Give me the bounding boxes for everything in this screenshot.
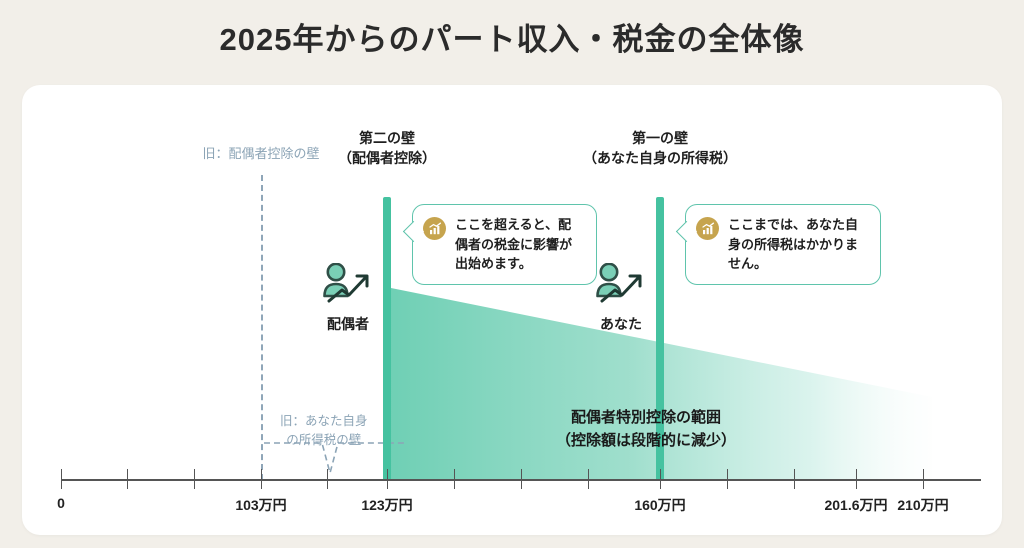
axis-tick-label-160: 160万円 xyxy=(634,495,685,515)
person-growth-icon xyxy=(321,263,375,307)
axis-tick xyxy=(794,469,795,489)
wall-second-123 xyxy=(383,197,391,481)
axis-tick-label-210: 210万円 xyxy=(897,495,948,515)
old-wall-label-110: 旧：あなた自身 の所得税の壁 xyxy=(280,412,368,450)
person-spouse: 配偶者 xyxy=(321,263,375,334)
callout-first-wall-text: ここまでは、あなた自身の所得税はかかりません。 xyxy=(728,215,868,274)
person-you: あなた xyxy=(594,263,648,334)
chart-badge-icon xyxy=(696,217,719,240)
deduction-range-caption-line1: 配偶者特別控除の範囲 xyxy=(556,407,736,430)
deduction-range-caption-line2: （控除額は段階的に減少） xyxy=(556,430,736,453)
axis-tick xyxy=(387,469,388,489)
axis-tick xyxy=(127,469,128,489)
callout-second-wall-text: ここを超えると、配偶者の税金に影響が出始めます。 xyxy=(455,215,584,274)
wall-label-second: 第二の壁 （配偶者控除） xyxy=(338,128,436,169)
infographic-root: 2025年からのパート収入・税金の全体像 xyxy=(0,0,1024,548)
old-wall-label-103: 旧：配偶者控除の壁 xyxy=(202,144,319,164)
wall-label-first-heading: 第一の壁 xyxy=(583,128,737,148)
axis-tick xyxy=(923,469,924,489)
old-wall-label-110-line1: 旧：あなた自身 xyxy=(280,412,368,431)
wall-label-first-subheading: （あなた自身の所得税） xyxy=(583,148,737,168)
page-title: 2025年からのパート収入・税金の全体像 xyxy=(0,14,1024,59)
axis-tick xyxy=(261,469,262,489)
axis-tick xyxy=(454,469,455,489)
deduction-range-caption: 配偶者特別控除の範囲 （控除額は段階的に減少） xyxy=(556,407,736,452)
axis-tick-label-201-6: 201.6万円 xyxy=(824,495,887,515)
axis-tick-label-0: 0 xyxy=(57,495,65,511)
wall-label-second-subheading: （配偶者控除） xyxy=(338,148,436,168)
old-wall-label-110-line2: の所得税の壁 xyxy=(280,431,368,450)
chart-badge-icon xyxy=(423,217,446,240)
spouse-special-deduction-area xyxy=(22,85,1002,535)
callout-second-wall: ここを超えると、配偶者の税金に影響が出始めます。 xyxy=(412,204,597,285)
axis-tick xyxy=(327,469,328,489)
axis-tick xyxy=(194,469,195,489)
axis-tick xyxy=(521,469,522,489)
axis-tick xyxy=(856,469,857,489)
person-spouse-label: 配偶者 xyxy=(321,314,375,334)
chart-card: 0 103万円 123万円 160万円 201.6万円 210万円 第二の壁 （… xyxy=(22,85,1002,535)
callout-first-wall: ここまでは、あなた自身の所得税はかかりません。 xyxy=(685,204,881,285)
chart-plot-area: 0 103万円 123万円 160万円 201.6万円 210万円 第二の壁 （… xyxy=(22,85,1002,535)
axis-tick-label-103: 103万円 xyxy=(235,495,286,515)
person-growth-icon xyxy=(594,263,648,307)
person-you-label: あなた xyxy=(594,314,648,334)
axis-tick xyxy=(727,469,728,489)
wall-label-first: 第一の壁 （あなた自身の所得税） xyxy=(583,128,737,169)
axis-tick xyxy=(588,469,589,489)
axis-tick xyxy=(660,469,661,489)
axis-tick-label-123: 123万円 xyxy=(361,495,412,515)
axis-tick xyxy=(61,469,62,489)
wall-label-second-heading: 第二の壁 xyxy=(338,128,436,148)
